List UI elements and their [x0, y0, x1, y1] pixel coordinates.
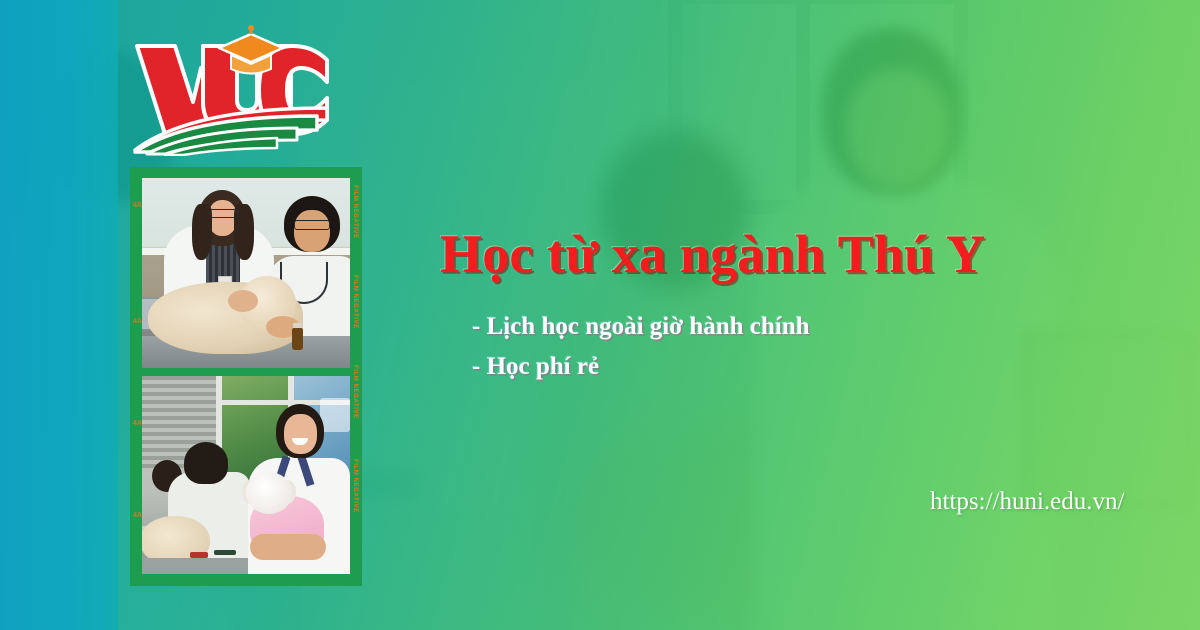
photo1-woman-face [208, 200, 237, 236]
list-item: - Học phí rẻ [472, 347, 992, 387]
photo1-woman-glasses [209, 209, 238, 218]
photo-vet-holding-dog [142, 376, 350, 574]
photo1-man-glasses [294, 220, 330, 230]
photo2-woman-arm [250, 534, 326, 560]
photo-vets-examining-dog [142, 178, 350, 368]
left-teal-strip-overlay [0, 0, 118, 630]
film-negative-label: FILM NEGATIVE [352, 275, 358, 329]
list-item: - Lịch học ngoài giờ hành chính [472, 307, 992, 347]
photo2-red-tool [190, 552, 208, 558]
page-title: Học từ xa ngành Thú Y [440, 222, 985, 286]
photo2-green-tool [214, 550, 236, 555]
photo1-medicine-bottle [292, 328, 303, 350]
photo1-man-face [294, 210, 330, 252]
photo1-hand-left [228, 290, 258, 312]
photo2-man-head [184, 442, 228, 484]
benefits-list: - Lịch học ngoài giờ hành chính - Học ph… [472, 307, 992, 387]
film-negative-label: FILM NEGATIVE [352, 365, 358, 419]
film-edge-right: FILM NEGATIVE FILM NEGATIVE FILM NEGATIV… [348, 167, 362, 586]
photo2-dog-head [246, 472, 292, 514]
promo-banner: 4A 4 4A 4A 4 4A 4A 4 4A 4A 4 4A FILM NEG… [0, 0, 1200, 630]
photo2-wall-poster [320, 398, 350, 432]
vuc-logo[interactable] [131, 24, 331, 156]
website-url[interactable]: https://huni.edu.vn/ [930, 487, 1124, 517]
film-negative-label: FILM NEGATIVE [352, 185, 358, 239]
film-strip-frame: 4A 4 4A 4A 4 4A 4A 4 4A 4A 4 4A FILM NEG… [130, 167, 362, 586]
film-negative-label: FILM NEGATIVE [352, 459, 358, 513]
photo2-woman-face [284, 414, 317, 454]
